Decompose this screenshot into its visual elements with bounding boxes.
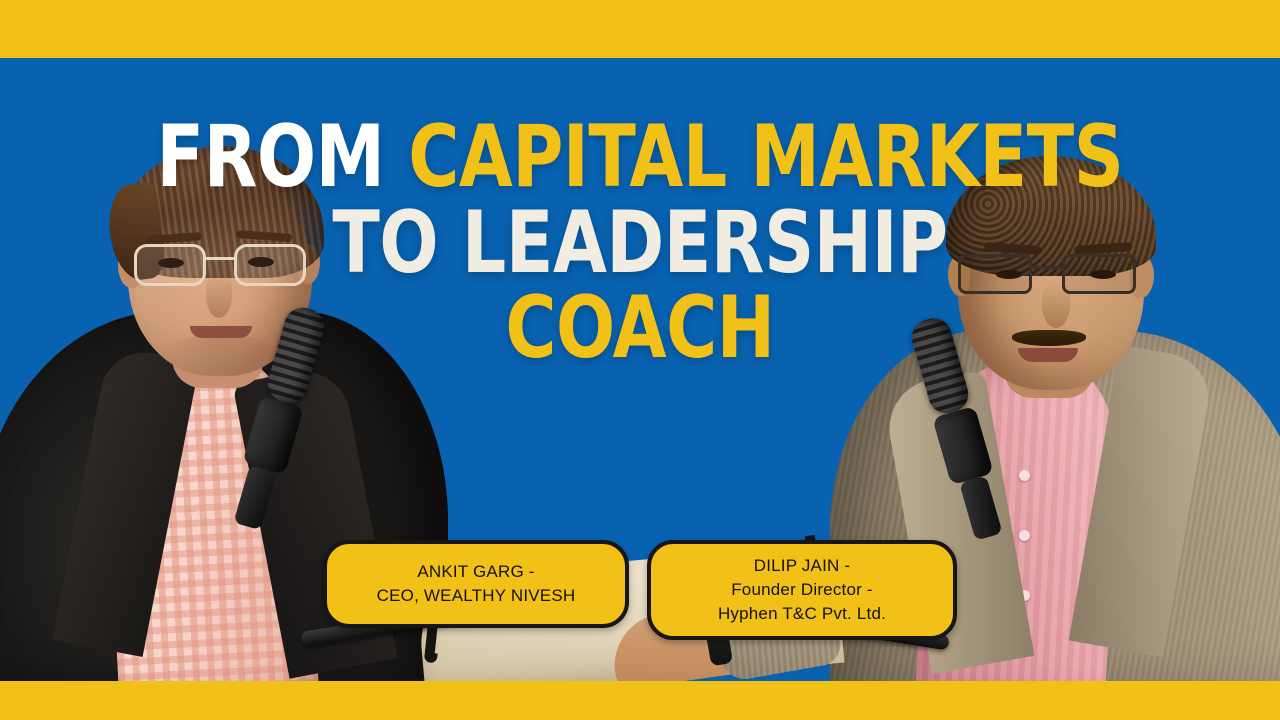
name-badges: ANKIT GARG - CEO, WEALTHY NIVESH DILIP J… [0, 540, 1280, 640]
mic-mount [959, 475, 1002, 540]
page-title: FROM CAPITAL MARKETS TO LEADERSHIP COACH [0, 120, 1280, 367]
badge-right-line-1: DILIP JAIN - [677, 554, 927, 578]
title-line-2: TO LEADERSHIP [64, 206, 1216, 282]
badge-left-line-1: ANKIT GARG - [353, 560, 599, 584]
badge-dilip-jain[interactable]: DILIP JAIN - Founder Director - Hyphen T… [647, 540, 957, 640]
title-line-1: FROM CAPITAL MARKETS [64, 120, 1216, 196]
right-shirt-button [1019, 470, 1030, 481]
title-line-3: COACH [64, 291, 1216, 367]
top-brand-bar [0, 0, 1280, 58]
badge-right-line-2: Founder Director - [677, 578, 927, 602]
stage-background: FROM CAPITAL MARKETS TO LEADERSHIP COACH… [0, 58, 1280, 681]
badge-left-line-2: CEO, WEALTHY NIVESH [353, 584, 599, 608]
mic-mount [233, 465, 276, 530]
bottom-brand-bar [0, 681, 1280, 720]
badge-right-line-3: Hyphen T&C Pvt. Ltd. [677, 602, 927, 626]
podcast-thumbnail: FROM CAPITAL MARKETS TO LEADERSHIP COACH… [0, 0, 1280, 720]
badge-ankit-garg[interactable]: ANKIT GARG - CEO, WEALTHY NIVESH [323, 540, 629, 628]
